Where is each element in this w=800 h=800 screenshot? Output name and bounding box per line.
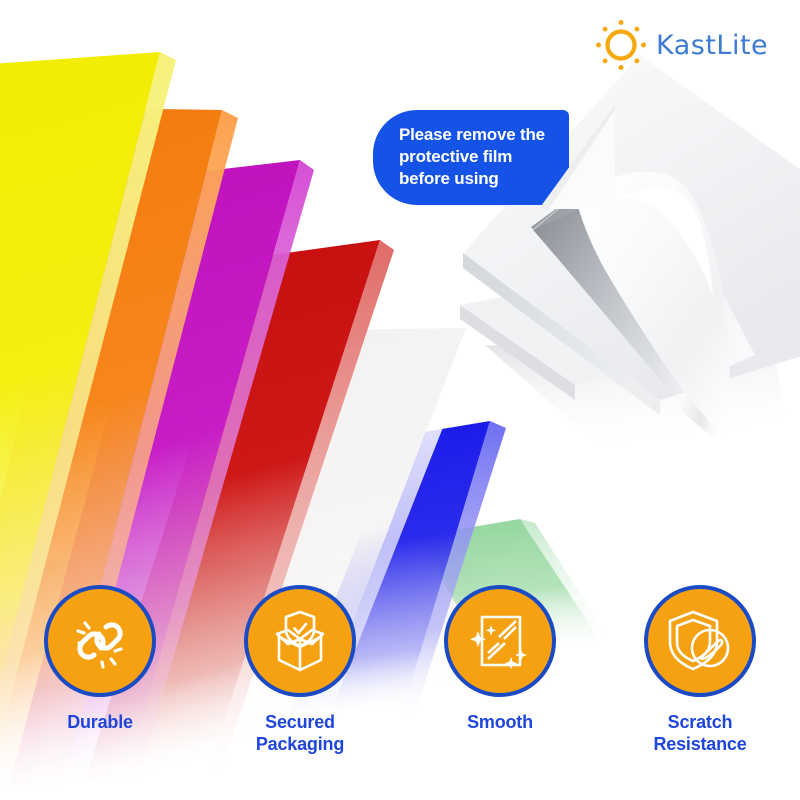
feature-label-scratch-resistance: Scratch Resistance	[653, 712, 746, 755]
feature-label-durable: Durable	[67, 712, 133, 734]
callout-bubble: Please remove the protective film before…	[373, 110, 569, 205]
brand-logo: KastLite	[592, 16, 768, 74]
chain-link-icon	[66, 607, 134, 675]
badge-circle-durable[interactable]	[44, 585, 156, 697]
badge-circle-secured-packaging[interactable]	[244, 585, 356, 697]
feature-durable[interactable]: Durable	[10, 585, 190, 734]
shield-box-icon	[265, 606, 335, 676]
brand-wordmark: KastLite	[656, 30, 768, 61]
feature-badge-row: Durable	[0, 585, 800, 785]
badge-circle-smooth[interactable]	[444, 585, 556, 697]
feature-scratch-resistance[interactable]: Scratch Resistance	[610, 585, 790, 755]
feature-secured-packaging[interactable]: Secured Packaging	[210, 585, 390, 755]
callout-line-1: Please remove the	[399, 124, 553, 146]
sparkle-panel-icon	[466, 607, 534, 675]
sun-icon	[592, 16, 650, 74]
feature-smooth[interactable]: Smooth	[410, 585, 590, 734]
feature-label-smooth: Smooth	[467, 712, 533, 734]
product-marketing-image: Please remove the protective film before…	[0, 0, 800, 800]
feature-label-secured-packaging: Secured Packaging	[256, 712, 344, 755]
callout-line-2: protective film	[399, 146, 553, 168]
shield-blade-icon	[665, 606, 735, 676]
callout-line-3: before using	[399, 168, 553, 190]
badge-circle-scratch-resistance[interactable]	[644, 585, 756, 697]
